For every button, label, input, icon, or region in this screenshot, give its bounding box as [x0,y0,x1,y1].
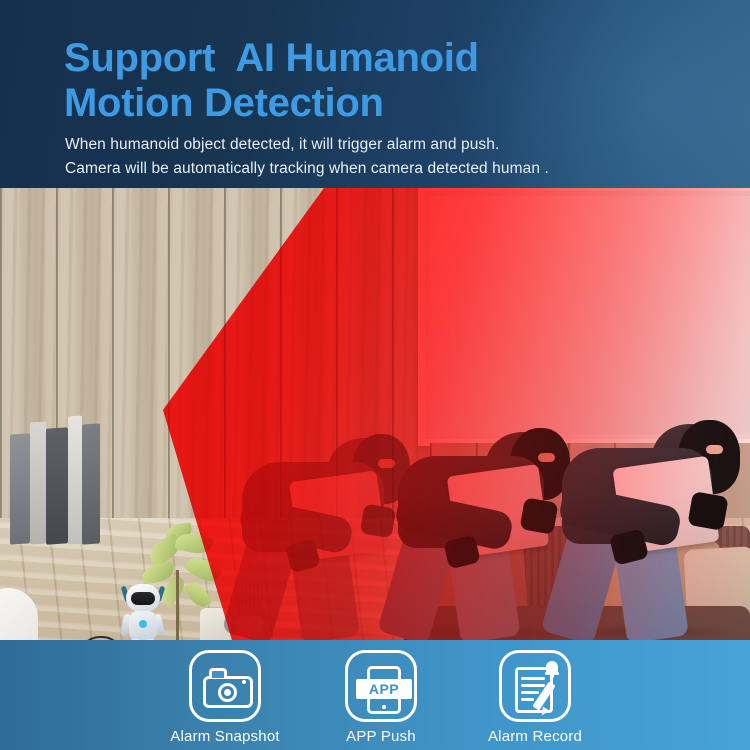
leaning-picture-frame [30,421,46,544]
feature-label: APP Push [308,728,454,745]
app-push-icon[interactable]: APP [345,650,417,722]
page-title: Support AI HumanoidMotion Detection [64,36,724,126]
product-feature-poster: Support AI HumanoidMotion Detection When… [0,0,750,750]
feature-bar: Alarm Snapshot APP APP Push [0,640,750,750]
subtitle-line-2: Camera will be automatically tracking wh… [65,160,549,178]
alarm-record-icon[interactable] [499,650,571,722]
leaning-picture-frame [82,423,100,544]
feature-alarm-record[interactable]: Alarm Record [462,650,608,745]
headline-line-2: Motion Detection [64,81,384,125]
leaning-picture-frame [46,427,68,545]
robot-toy [122,584,164,640]
feature-app-push[interactable]: APP APP Push [308,650,454,745]
camera-icon[interactable] [189,650,261,722]
headline-line-1: Support AI Humanoid [64,36,479,80]
app-badge-text: APP [356,679,412,699]
feature-label: Alarm Record [462,728,608,745]
leaning-picture-frame [10,433,30,544]
feature-label: Alarm Snapshot [152,728,298,745]
subtitle-line-1: When humanoid object detected, it will t… [65,136,499,154]
feature-alarm-snapshot[interactable]: Alarm Snapshot [152,650,298,745]
intruder-figure [556,370,750,640]
header-banner: Support AI HumanoidMotion Detection When… [0,0,750,188]
leaning-picture-frame [68,416,82,545]
plant-stem [176,570,179,640]
scene-photo [0,188,750,640]
